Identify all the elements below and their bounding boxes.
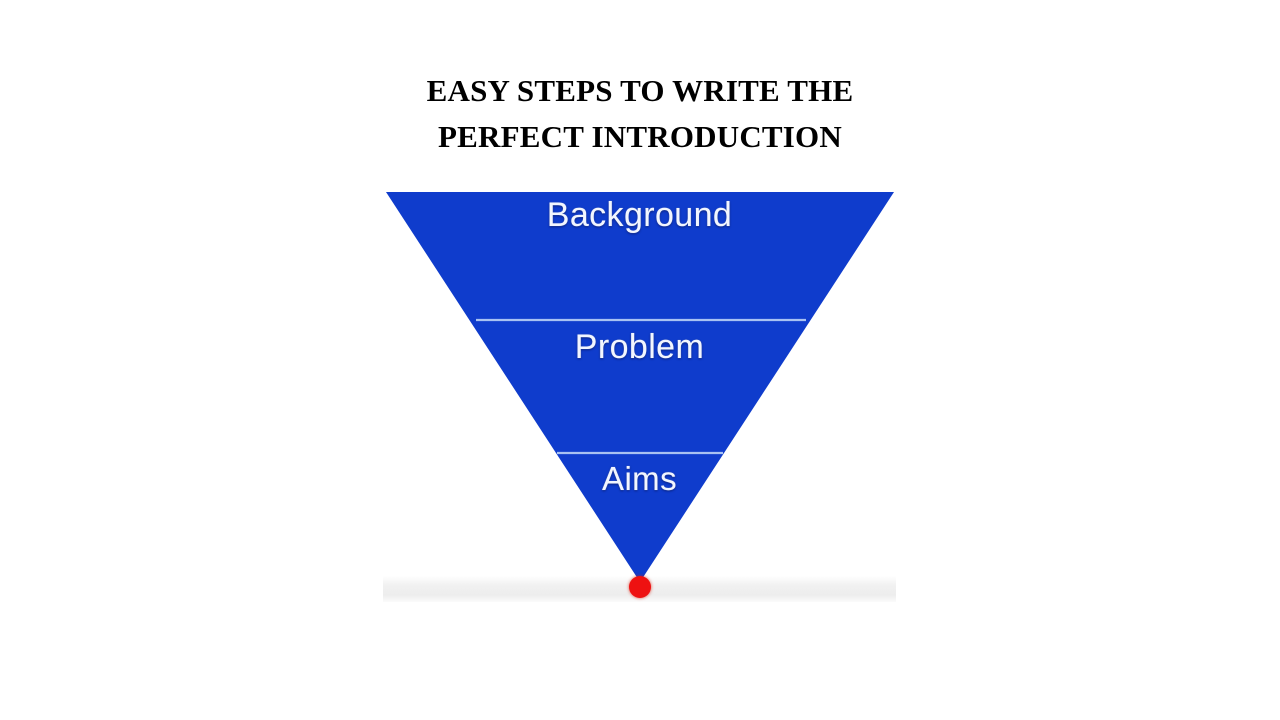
funnel-triangle: [386, 192, 894, 582]
page-title: EASY STEPS TO WRITE THE PERFECT INTRODUC…: [340, 68, 940, 160]
funnel-shape: [383, 190, 896, 602]
thesis-statement-dot-icon: [629, 576, 651, 598]
introduction-funnel-diagram: Background Problem Aims: [383, 190, 896, 602]
slide-canvas: EASY STEPS TO WRITE THE PERFECT INTRODUC…: [0, 0, 1280, 720]
